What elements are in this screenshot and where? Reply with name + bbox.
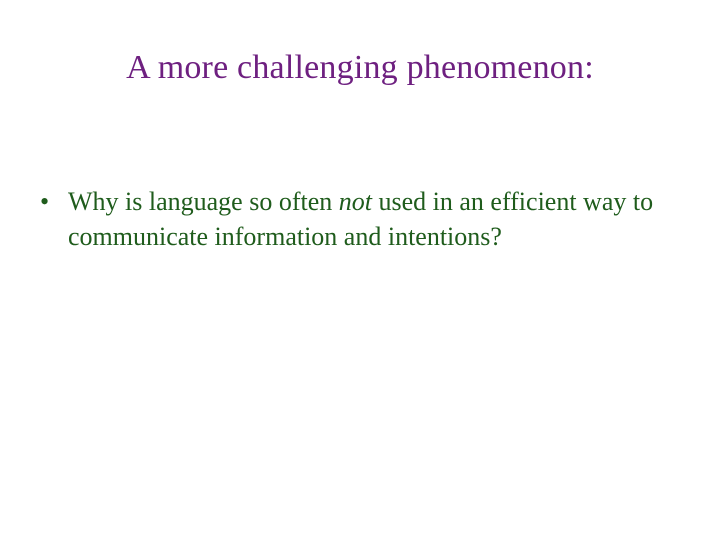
bullet-point-icon: • (36, 184, 68, 219)
page-title: A more challenging phenomenon: (0, 48, 720, 88)
slide-body: • Why is language so often not used in a… (36, 184, 684, 254)
list-item: • Why is language so often not used in a… (36, 184, 684, 254)
slide-canvas: A more challenging phenomenon: • Why is … (0, 0, 720, 540)
bullet-text-emphasis: not (339, 187, 372, 216)
bullet-text-segment-before: Why is language so often (68, 187, 339, 216)
list-item-text: Why is language so often not used in an … (68, 184, 678, 254)
